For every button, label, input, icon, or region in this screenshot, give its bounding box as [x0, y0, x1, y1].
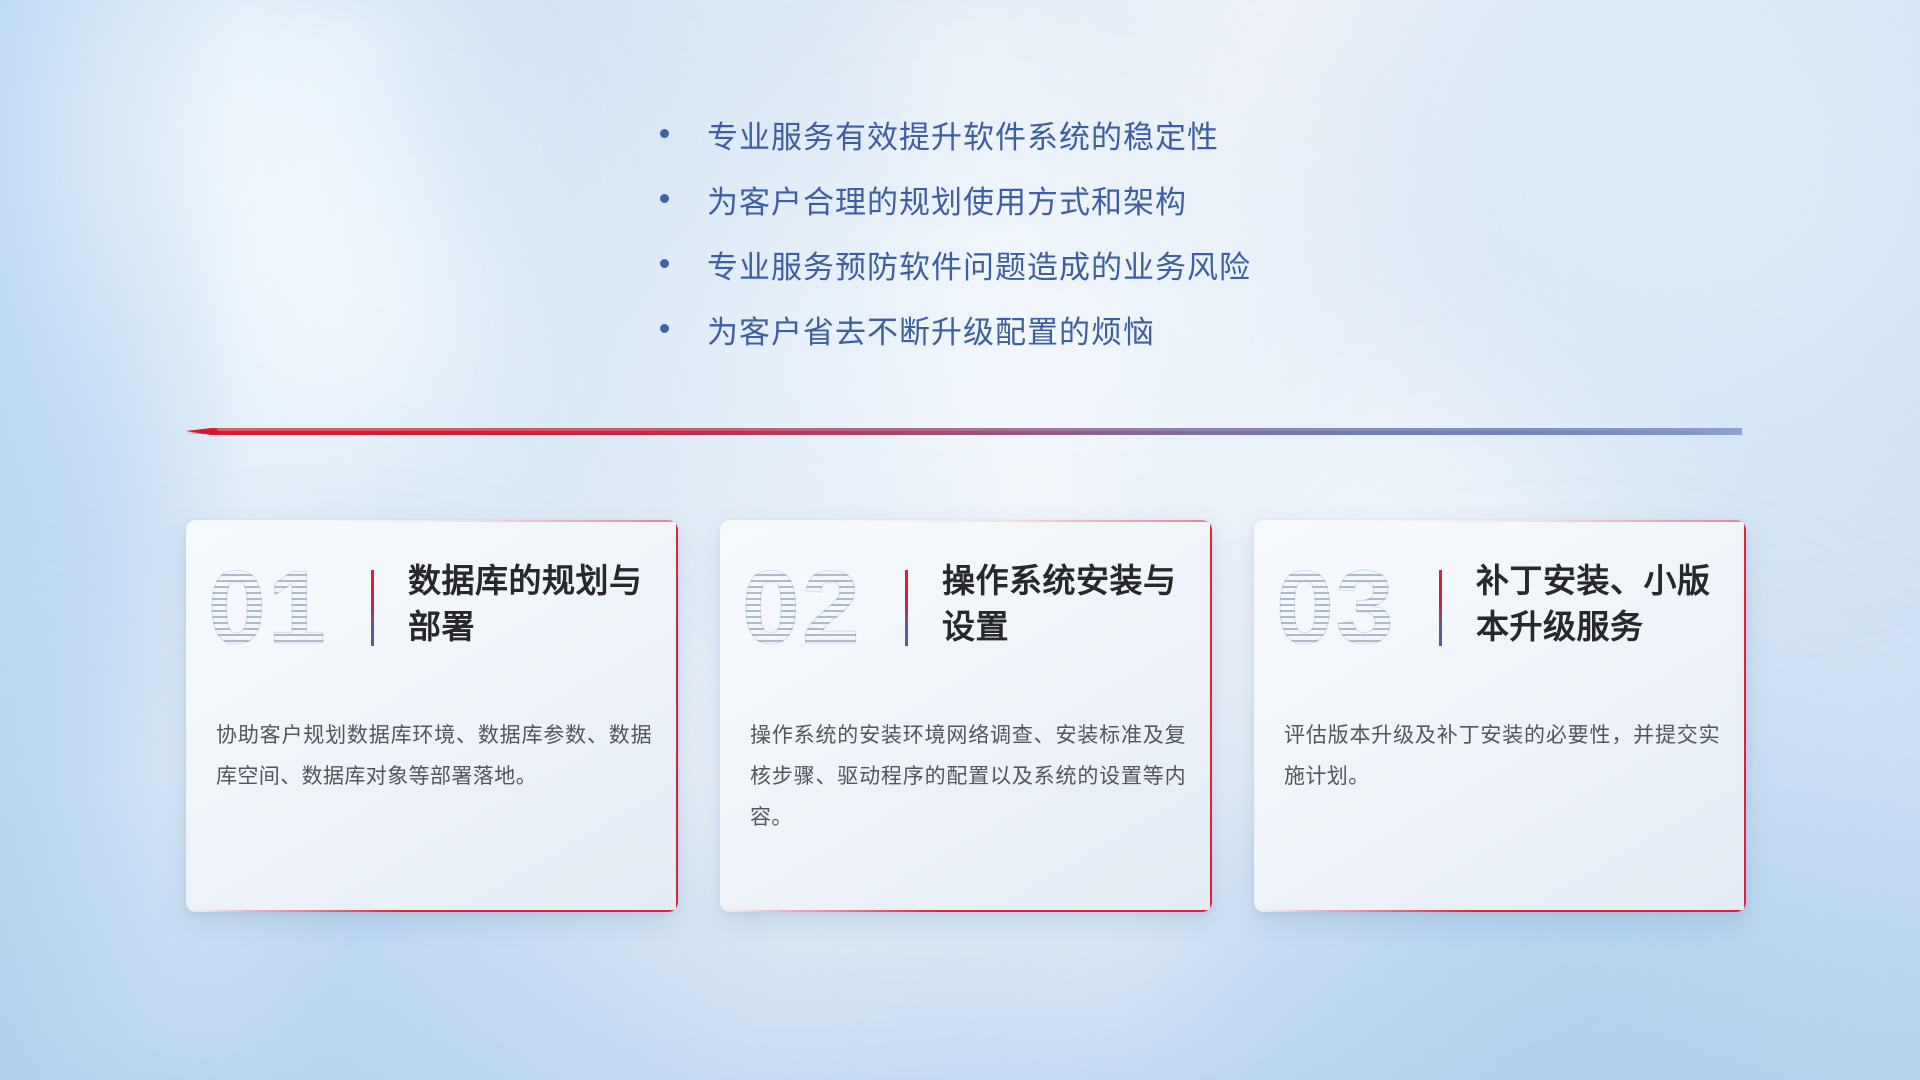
bullet-item: 为客户合理的规划使用方式和架构: [660, 177, 1420, 242]
benefits-bullet-list: 专业服务有效提升软件系统的稳定性 为客户合理的规划使用方式和架构 专业服务预防软…: [660, 112, 1420, 372]
card-title-divider: [905, 570, 908, 646]
card-title-divider: [371, 570, 374, 646]
card-number: 03: [1276, 556, 1396, 660]
card-header: 01 数据库的规划与部署: [186, 520, 678, 694]
card-title: 操作系统安装与设置: [942, 558, 1192, 649]
card-description: 协助客户规划数据库环境、数据库参数、数据库空间、数据库对象等部署落地。: [216, 716, 652, 798]
card-description: 操作系统的安装环境网络调查、安装标准及复核步骤、驱动程序的配置以及系统的设置等内…: [750, 716, 1186, 839]
gradient-divider-line: [186, 424, 1742, 438]
card-title: 补丁安装、小版本升级服务: [1476, 558, 1726, 649]
divider-highlight: [217, 428, 1711, 431]
bullet-dot-icon: [660, 324, 669, 333]
bullet-item: 专业服务预防软件问题造成的业务风险: [660, 242, 1420, 307]
card-number: 01: [208, 556, 328, 660]
bullet-item: 专业服务有效提升软件系统的稳定性: [660, 112, 1420, 177]
bullet-item: 为客户省去不断升级配置的烦恼: [660, 307, 1420, 372]
service-card[interactable]: 01 数据库的规划与部署 协助客户规划数据库环境、数据库参数、数据库空间、数据库…: [186, 520, 678, 912]
bullet-text: 为客户合理的规划使用方式和架构: [707, 177, 1187, 222]
bullet-dot-icon: [660, 129, 669, 138]
card-header: 02 操作系统安装与设置: [720, 520, 1212, 694]
card-description: 评估版本升级及补丁安装的必要性，并提交实施计划。: [1284, 716, 1720, 798]
card-bottom-accent: [1254, 910, 1746, 913]
bullet-text: 为客户省去不断升级配置的烦恼: [707, 307, 1155, 352]
service-card[interactable]: 03 补丁安装、小版本升级服务 评估版本升级及补丁安装的必要性，并提交实施计划。: [1254, 520, 1746, 912]
bullet-text: 专业服务预防软件问题造成的业务风险: [707, 242, 1251, 287]
service-card[interactable]: 02 操作系统安装与设置 操作系统的安装环境网络调查、安装标准及复核步骤、驱动程…: [720, 520, 1212, 912]
card-bottom-accent: [186, 910, 678, 913]
bullet-dot-icon: [660, 259, 669, 268]
card-bottom-accent: [720, 910, 1212, 913]
card-title-divider: [1439, 570, 1442, 646]
card-number: 02: [742, 556, 862, 660]
service-card-row: 01 数据库的规划与部署 协助客户规划数据库环境、数据库参数、数据库空间、数据库…: [186, 520, 1746, 920]
card-title: 数据库的规划与部署: [408, 558, 658, 649]
bullet-text: 专业服务有效提升软件系统的稳定性: [707, 112, 1219, 157]
card-header: 03 补丁安装、小版本升级服务: [1254, 520, 1746, 694]
bullet-dot-icon: [660, 194, 669, 203]
